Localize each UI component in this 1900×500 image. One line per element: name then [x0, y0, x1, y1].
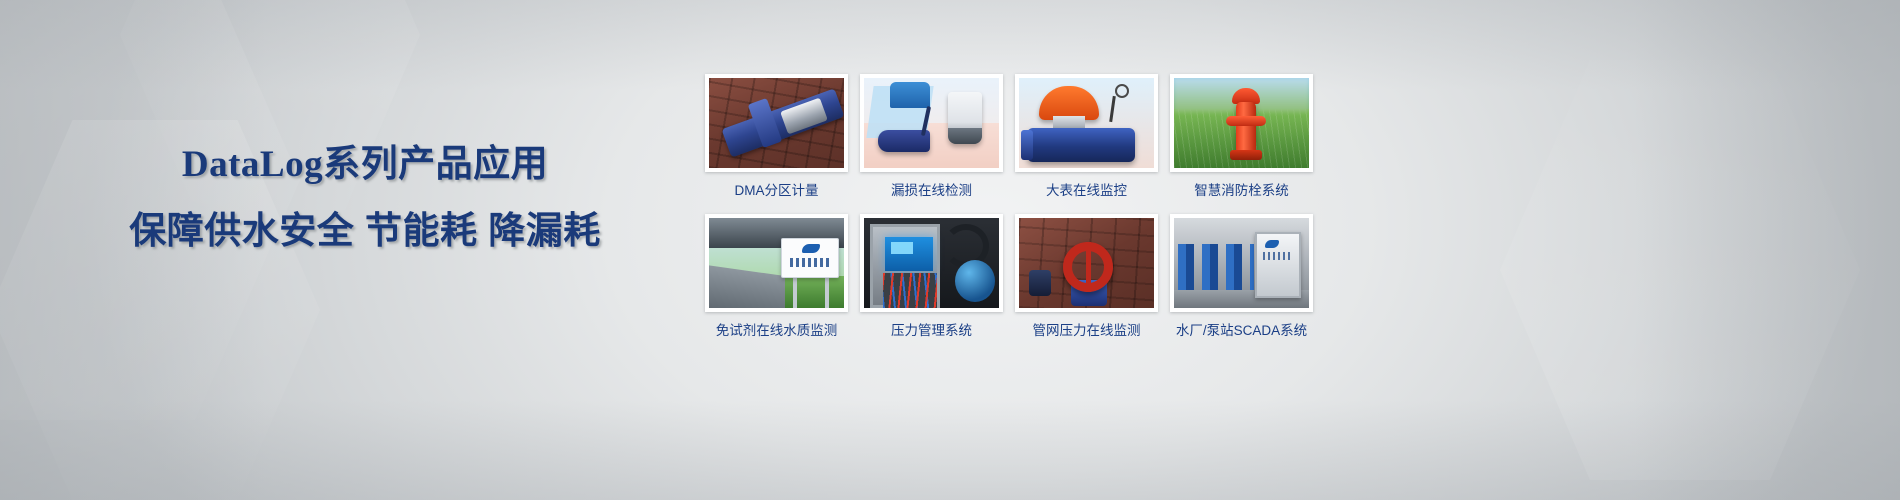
headline-line-1: DataLog系列产品应用: [0, 143, 690, 187]
smart-hydrant-system-photo[interactable]: [1170, 74, 1313, 172]
product-caption: 大表在线监控: [1046, 182, 1127, 200]
product-application-banner: DataLog系列产品应用 保障供水安全 节能耗 降漏耗 DMA分区计量: [0, 0, 1900, 500]
product-card-reagent-free-water-quality[interactable]: 免试剂在线水质监测: [705, 214, 848, 340]
pipe-network-pressure-photo[interactable]: [1015, 214, 1158, 312]
hydrant-body-shape: [1236, 102, 1256, 154]
hydrant-base-shape: [1230, 150, 1262, 160]
pressure-management-system-photo[interactable]: [860, 214, 1003, 312]
road-shape: [709, 264, 785, 308]
wiring-bundle-shape: [883, 273, 937, 308]
product-grid-row-2: 免试剂在线水质监测 压力管理系统: [705, 214, 1313, 340]
waterworks-scada-system-photo[interactable]: [1170, 214, 1313, 312]
banner-headline: DataLog系列产品应用 保障供水安全 节能耗 降漏耗: [0, 143, 690, 253]
cylindrical-sensor-shape: [948, 92, 982, 144]
product-caption: 管网压力在线监测: [1033, 322, 1141, 340]
product-caption: 压力管理系统: [891, 322, 972, 340]
product-caption: 智慧消防栓系统: [1194, 182, 1289, 200]
headline-line-2: 保障供水安全 节能耗 降漏耗: [0, 209, 690, 253]
cabinet-logo-shape: [1265, 240, 1279, 248]
blue-valve-cap-shape: [890, 82, 930, 108]
sign-text-shape: [790, 258, 830, 267]
product-card-dma-zone-metering[interactable]: DMA分区计量: [705, 74, 848, 200]
orange-meter-dome-shape: [1039, 86, 1099, 120]
hydrant-outlet-shape: [1226, 116, 1266, 126]
water-pipe-shape: [721, 88, 844, 157]
hexagon-watermark-d: [1500, 60, 1860, 480]
sign-post-left-shape: [793, 276, 797, 308]
photo-scene: [864, 218, 999, 308]
blue-tank-shape: [955, 260, 995, 302]
pressure-sensor-shape: [1029, 270, 1051, 296]
cabinet-text-shape: [1263, 252, 1293, 260]
photo-scene: [709, 218, 844, 308]
product-card-smart-hydrant-system[interactable]: 智慧消防栓系统: [1170, 74, 1313, 200]
photo-scene: [864, 78, 999, 168]
reagent-free-water-quality-photo[interactable]: [705, 214, 848, 312]
product-grid-row-1: DMA分区计量 漏损在线检测: [705, 74, 1313, 200]
photo-scene: [1019, 218, 1154, 308]
photo-scene: [1174, 78, 1309, 168]
sign-post-right-shape: [825, 276, 829, 308]
photo-scene: [1019, 78, 1154, 168]
sign-logo-shape: [802, 244, 820, 253]
photo-scene: [709, 78, 844, 168]
product-card-large-meter-monitoring[interactable]: 大表在线监控: [1015, 74, 1158, 200]
product-card-waterworks-scada-system[interactable]: 水厂/泵站SCADA系统: [1170, 214, 1313, 340]
leak-online-detection-photo[interactable]: [860, 74, 1003, 172]
product-grid: DMA分区计量 漏损在线检测: [705, 74, 1313, 340]
product-caption: 漏损在线检测: [891, 182, 972, 200]
blue-meter-body-shape: [1027, 128, 1135, 162]
photo-scene: [1174, 218, 1309, 308]
dma-zone-metering-photo[interactable]: [705, 74, 848, 172]
product-caption: DMA分区计量: [735, 182, 819, 200]
product-card-pressure-management-system[interactable]: 压力管理系统: [860, 214, 1003, 340]
controller-panel-shape: [885, 237, 933, 271]
red-handwheel-shape: [1063, 242, 1113, 292]
gauge-knob-shape: [1115, 84, 1129, 98]
control-cabinet-shape: [870, 224, 940, 308]
scada-cabinet-shape: [1255, 232, 1301, 298]
product-card-pipe-network-pressure[interactable]: 管网压力在线监测: [1015, 214, 1158, 340]
probe-rod-shape: [1109, 96, 1116, 122]
monitoring-station-sign-shape: [781, 238, 839, 278]
large-meter-monitoring-photo[interactable]: [1015, 74, 1158, 172]
product-card-leak-online-detection[interactable]: 漏损在线检测: [860, 74, 1003, 200]
product-caption: 免试剂在线水质监测: [716, 322, 838, 340]
product-caption: 水厂/泵站SCADA系统: [1176, 322, 1307, 340]
controller-screen-shape: [891, 242, 913, 254]
